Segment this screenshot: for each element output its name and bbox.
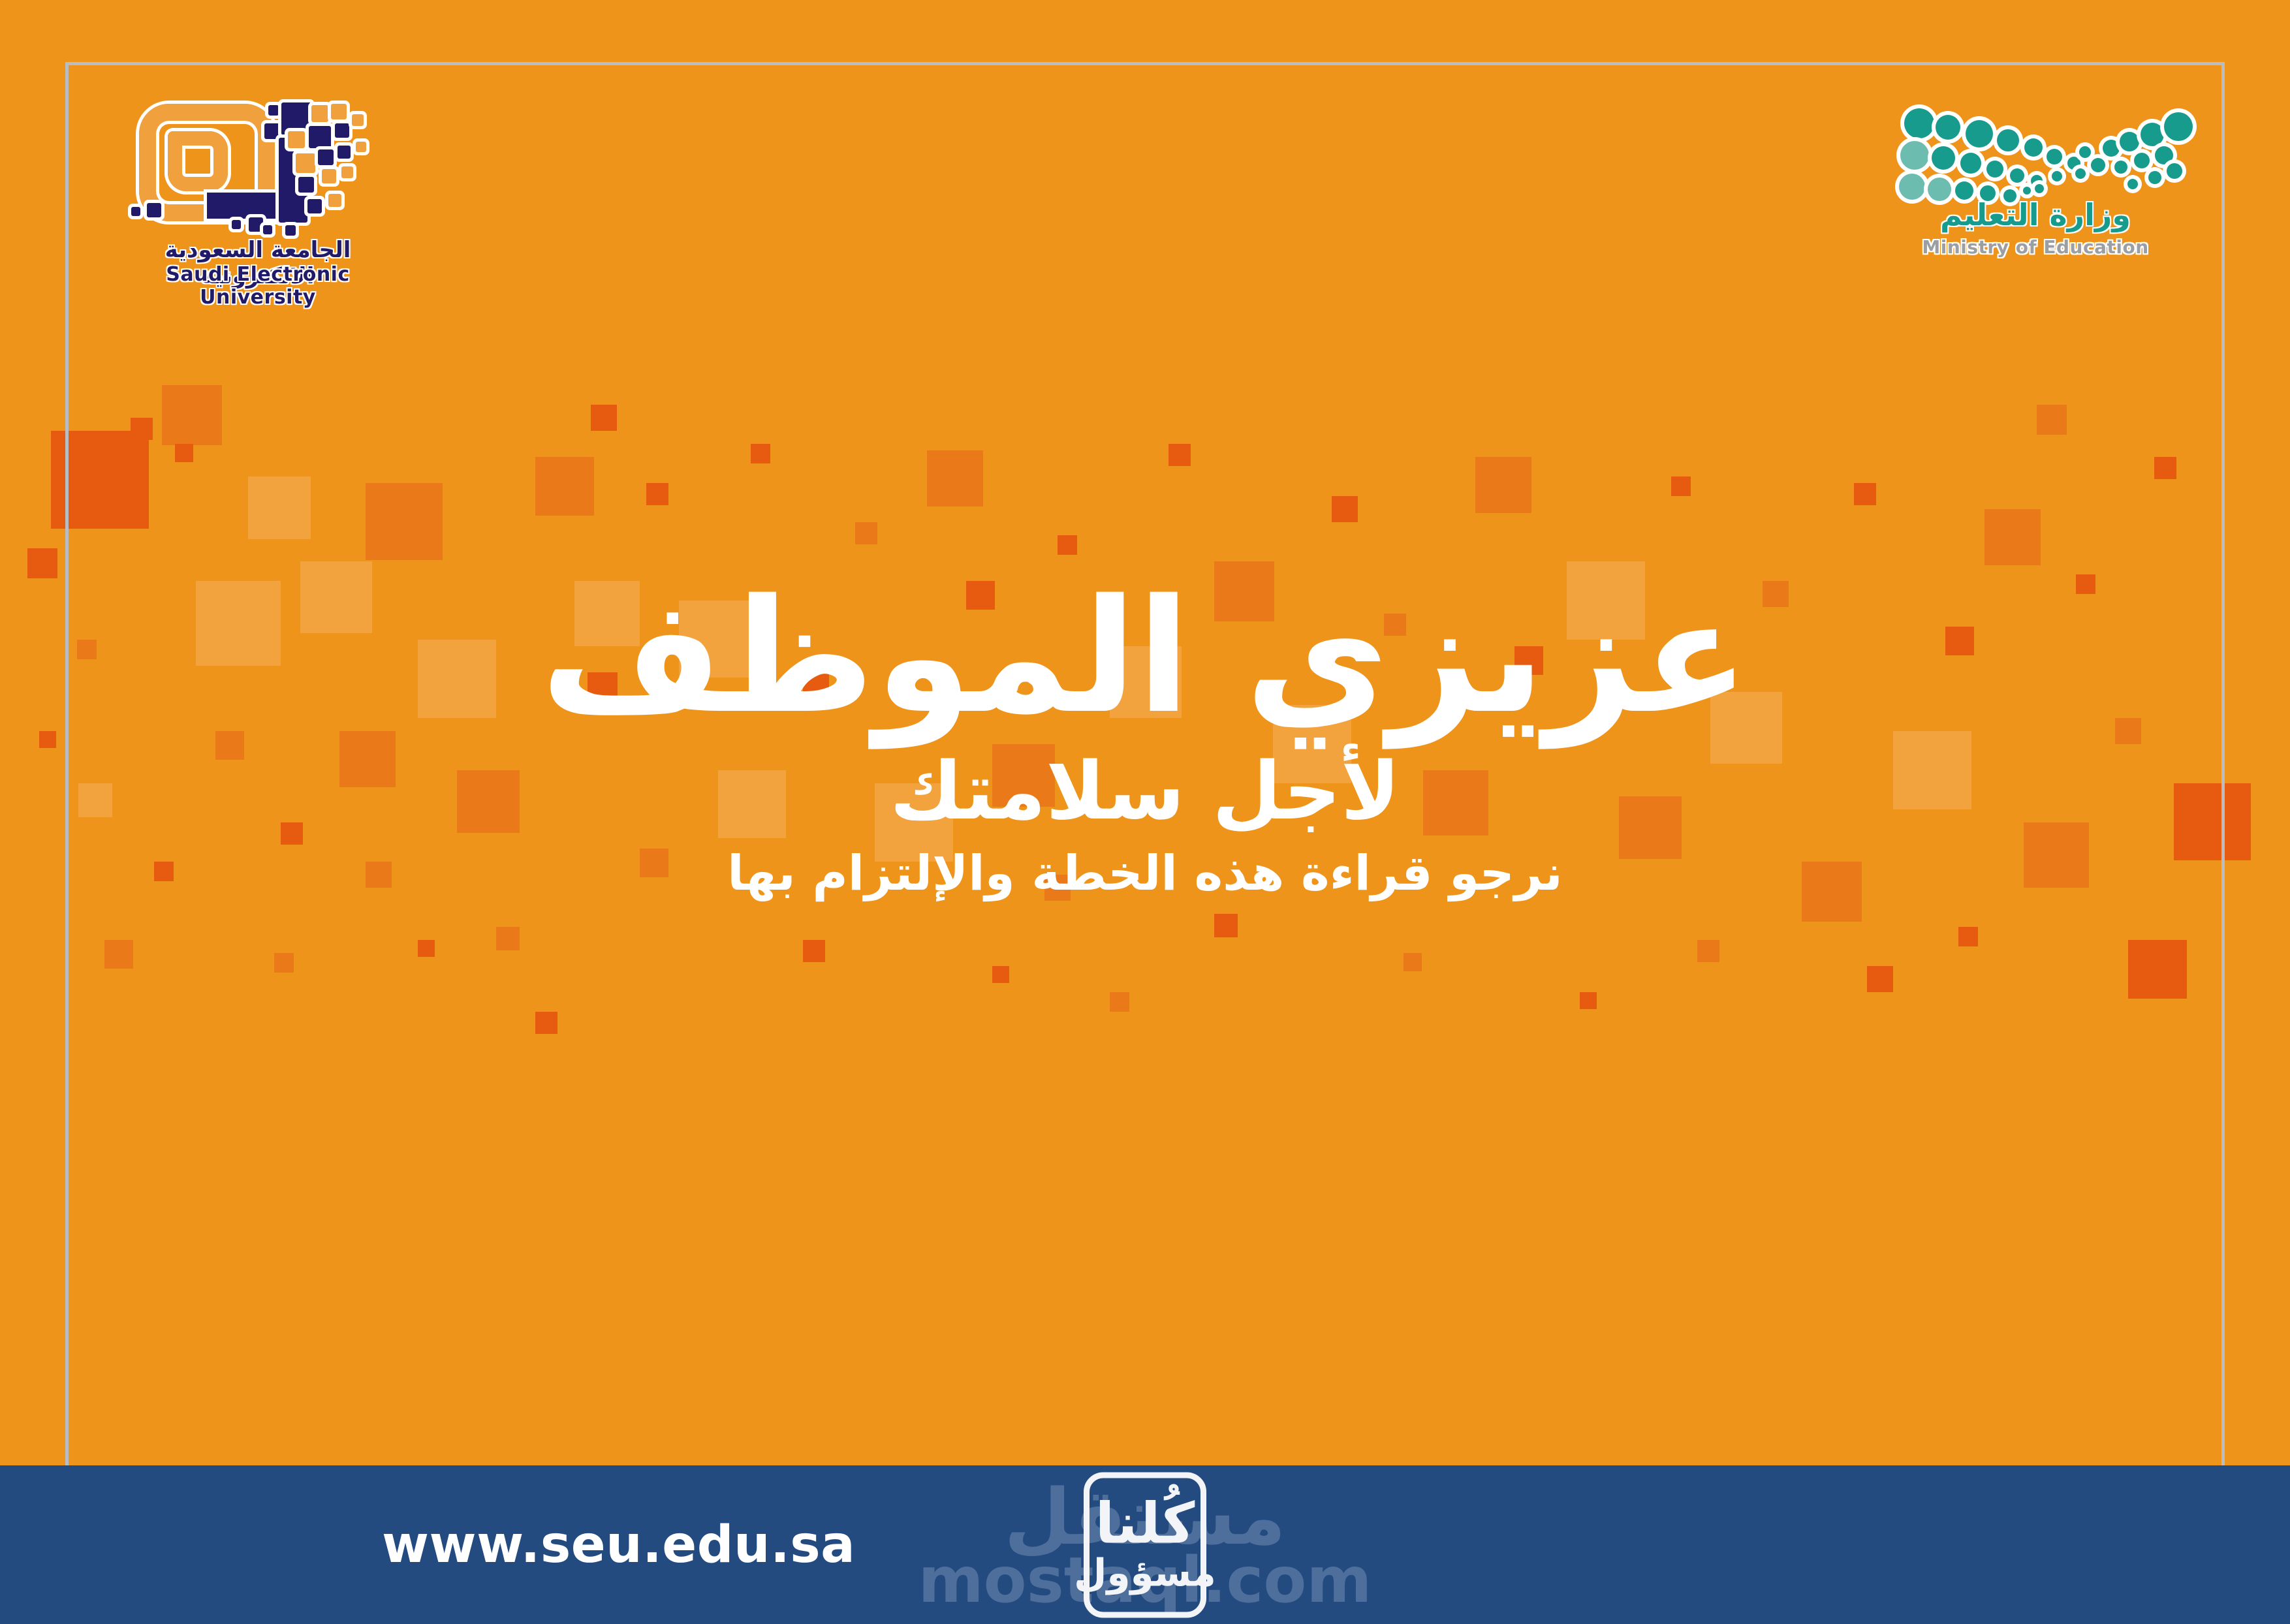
pixel-square-icon <box>352 114 364 126</box>
cross-shape-icon <box>162 385 222 445</box>
saudi-electronic-university-logo: الجامعة السعودية الالكترونية Saudi Elect… <box>121 101 395 297</box>
moe-map-dot-icon <box>1904 108 1934 138</box>
cross-shape-icon <box>1214 914 1238 937</box>
moe-name-arabic: وزارة التعليم <box>1895 197 2176 232</box>
cross-shape-icon <box>591 405 617 431</box>
moe-map-dot-icon <box>2148 171 2161 184</box>
pixel-square-icon <box>335 123 349 138</box>
cross-shape-icon <box>535 457 594 516</box>
pixel-square-icon <box>331 104 347 119</box>
moe-map-dot-icon <box>2114 161 2127 174</box>
moe-map-dot-icon <box>1966 120 1993 148</box>
pixel-square-icon <box>356 142 366 152</box>
badge-line-2: مسؤول <box>1074 1554 1216 1591</box>
page-note: نرجو قراءة هذه الخطة والإلتزام بها <box>0 845 2290 903</box>
moe-map-dot-icon <box>2167 163 2182 179</box>
moe-map-dot-icon <box>2120 132 2139 151</box>
moe-map-dot-icon <box>2023 187 2031 195</box>
moe-logo-mark <box>1895 98 2176 196</box>
at-symbol-inner-icon <box>168 131 228 191</box>
cross-shape-icon <box>2037 405 2067 435</box>
cross-shape-icon <box>1958 927 1978 946</box>
moe-map-dot-icon <box>2024 138 2043 157</box>
cross-shape-icon <box>1697 940 1719 962</box>
footer-bar: www.seu.edu.sa مستقل mostaql.com كُلنا م… <box>0 1465 2290 1624</box>
pixel-square-icon <box>322 169 336 183</box>
cross-shape-icon <box>418 940 435 957</box>
moe-map-dot-icon <box>2075 168 2086 179</box>
cross-shape-icon <box>248 476 311 539</box>
pixel-square-icon <box>298 177 314 193</box>
cross-shape-icon <box>803 940 825 962</box>
moe-map-dot-icon <box>2103 140 2120 157</box>
moe-map-dot-icon <box>2047 149 2062 164</box>
moe-map-dot-icon <box>2127 179 2138 189</box>
pixel-square-icon <box>288 131 305 148</box>
moe-name-english: Ministry of Education <box>1895 236 2176 258</box>
cross-shape-icon <box>855 522 877 544</box>
page-subtitle: لأجل سلامتك <box>0 745 2290 837</box>
moe-map-dot-icon <box>1932 146 1955 170</box>
cross-shape-icon <box>1854 483 1876 505</box>
moe-map-dot-icon <box>1997 129 2019 151</box>
pixel-square-icon <box>318 149 334 165</box>
cross-shape-icon <box>1580 992 1597 1009</box>
cross-shape-icon <box>1671 476 1691 496</box>
moe-map-dot-icon <box>2164 112 2193 141</box>
ministry-of-education-logo: وزارة التعليم Ministry of Education <box>1895 98 2176 300</box>
pixel-square-icon <box>296 153 315 173</box>
cross-shape-icon <box>104 940 133 969</box>
pixel-square-icon <box>264 123 280 139</box>
pixel-square-icon <box>341 166 353 178</box>
cross-shape-icon <box>1867 966 1893 992</box>
cross-shape-icon <box>1404 953 1422 971</box>
moe-map-dot-icon <box>2141 123 2164 146</box>
moe-map-dot-icon <box>1986 161 2003 178</box>
moe-map-dot-icon <box>2091 158 2105 172</box>
page-title: عزيزي الموظف <box>0 574 2290 739</box>
cross-shape-icon <box>274 953 294 973</box>
moe-map-dot-icon <box>2134 153 2150 168</box>
cross-shape-icon <box>366 483 443 560</box>
pixel-square-icon <box>328 194 341 207</box>
moe-map-dot-icon <box>2035 184 2044 193</box>
moe-map-dot-icon <box>1960 153 1981 174</box>
pixel-square-icon <box>309 126 331 148</box>
moe-map-dot-icon <box>2067 157 2080 170</box>
pixel-square-icon <box>307 199 322 213</box>
pixel-square-icon <box>147 203 161 217</box>
cross-shape-icon <box>131 418 153 440</box>
cross-shape-icon <box>535 1012 557 1034</box>
pixel-square-icon <box>131 207 140 216</box>
website-url[interactable]: www.seu.edu.sa <box>382 1516 855 1574</box>
cross-shape-icon <box>927 450 983 507</box>
cross-shape-icon <box>751 444 770 463</box>
pixel-square-icon <box>263 225 272 234</box>
headline-block: عزيزي الموظف لأجل سلامتك نرجو قراءة هذه … <box>0 574 2290 903</box>
moe-map-dot-icon <box>1899 174 1925 200</box>
pixel-square-icon <box>249 217 263 232</box>
badge-line-1: كُلنا <box>1095 1498 1195 1552</box>
cross-shape-icon <box>1169 444 1191 466</box>
cross-shape-icon <box>992 966 1009 983</box>
pixel-square-icon <box>285 225 296 236</box>
pixel-square-icon <box>281 102 311 135</box>
moe-map-dot-icon <box>2079 146 2091 158</box>
cross-shape-icon <box>1058 535 1077 555</box>
pixel-square-icon <box>268 105 279 116</box>
moe-map-dot-icon <box>1900 141 1929 170</box>
seu-name-english: Saudi Electronic University <box>121 263 395 309</box>
poster-canvas: الجامعة السعودية الالكترونية Saudi Elect… <box>0 0 2290 1624</box>
moe-map-dot-icon <box>2010 168 2024 183</box>
cross-shape-icon <box>2128 940 2187 999</box>
seu-logo-mark <box>134 101 395 232</box>
pixel-square-icon <box>337 146 351 159</box>
cross-shape-icon <box>1984 509 2041 565</box>
cross-shape-icon <box>1110 992 1129 1012</box>
cross-shape-icon <box>1475 457 1531 513</box>
cross-shape-icon <box>1332 496 1358 522</box>
cross-shape-icon <box>175 444 193 462</box>
cross-shape-icon <box>496 927 520 950</box>
moe-map-dot-icon <box>1936 115 1960 140</box>
kullona-masoul-badge: كُلنا مسؤول <box>1084 1472 1206 1617</box>
pixel-square-icon <box>311 105 328 122</box>
cross-shape-icon <box>646 483 668 505</box>
moe-map-dot-icon <box>2155 146 2173 164</box>
cross-shape-icon <box>2154 457 2176 479</box>
moe-map-dot-icon <box>2052 171 2062 181</box>
pixel-square-icon <box>232 220 241 229</box>
cross-shape-icon <box>51 431 149 529</box>
